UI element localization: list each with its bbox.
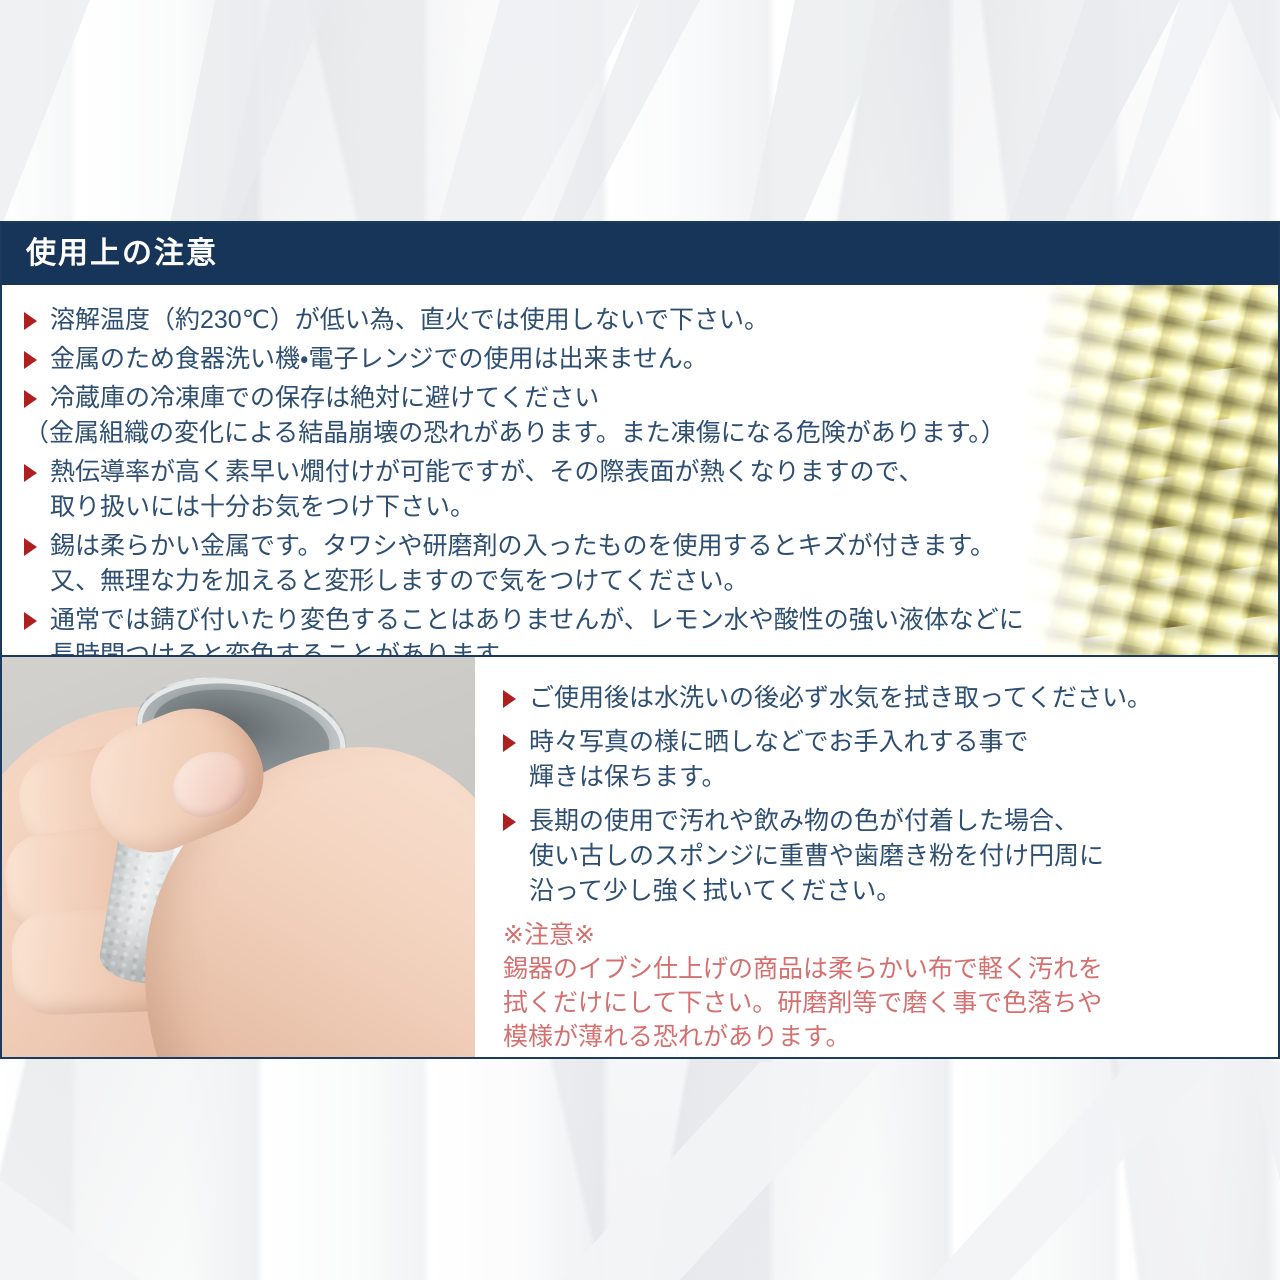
list-item: 錫は柔らかい金属です。タワシや研磨剤の入ったものを使用するとキズが付きます。 又… — [24, 529, 1278, 599]
warning-block: ※注意※ 錫器のイブシ仕上げの商品は柔らかい布で軽く汚れを 拭くだけにして下さい… — [503, 918, 1278, 1054]
list-item-text: 金属のため食器洗い機・電子レンジでの使用は出来ません。 — [50, 342, 1278, 377]
list-item: 溶解温度（約230℃）が低い為、直火では使用しないで下さい。 — [24, 303, 1278, 338]
red-triangle-bullet-icon — [503, 813, 529, 831]
care-line: 使い古しのスポンジに重曹や歯磨き粉を付け円周に — [529, 839, 1104, 874]
red-triangle-bullet-icon — [24, 390, 50, 408]
notice-line: 熱伝導率が高く素早い燗付けが可能ですが、その際表面が熱くなりますので、 — [50, 455, 1278, 490]
red-triangle-bullet-icon — [503, 734, 529, 752]
care-line: 長期の使用で汚れや飲み物の色が付着した場合、 — [529, 804, 1104, 839]
care-text-column: ご使用後は水洗いの後必ず水気を拭き取ってください。 時々写真の様に晒しなどでお手… — [475, 657, 1278, 1057]
hands-polishing-tin-cup-with-cloth-photo — [2, 657, 475, 1057]
care-line: 時々写真の様に晒しなどでお手入れする事で — [529, 725, 1029, 760]
red-triangle-bullet-icon — [503, 690, 529, 708]
notice-line: 通常では錆び付いたり変色することはありませんが、レモン水や酸性の強い液体などに — [50, 603, 1278, 638]
care-line: 沿って少し強く拭いてください。 — [529, 874, 1104, 909]
warning-line: 拭くだけにして下さい。研磨剤等で磨く事で色落ちや — [503, 986, 1278, 1020]
list-item-text: ご使用後は水洗いの後必ず水気を拭き取ってください。 — [529, 681, 1152, 716]
notice-line: 取り扱いには十分お気をつけ下さい。 — [50, 490, 1278, 525]
list-item: 通常では錆び付いたり変色することはありませんが、レモン水や酸性の強い液体などに … — [24, 603, 1278, 657]
notice-section: 溶解温度（約230℃）が低い為、直火では使用しないで下さい。 金属のため食器洗い… — [2, 285, 1278, 657]
red-triangle-bullet-icon — [24, 612, 50, 630]
red-triangle-bullet-icon — [24, 351, 50, 369]
list-item-text: 錫は柔らかい金属です。タワシや研磨剤の入ったものを使用するとキズが付きます。 又… — [50, 529, 1278, 599]
warning-line: 錫器のイブシ仕上げの商品は柔らかい布で軽く汚れを — [503, 952, 1278, 986]
care-line: 輝きは保ちます。 — [529, 760, 1029, 795]
usage-notice-card: 使用上の注意 溶解温度（約230℃）が低い為、直火では使用しないで下さい。 — [0, 221, 1280, 1059]
red-triangle-bullet-icon — [24, 538, 50, 556]
warning-heading: ※注意※ — [503, 918, 1278, 952]
notice-list: 溶解温度（約230℃）が低い為、直火では使用しないで下さい。 金属のため食器洗い… — [2, 285, 1278, 657]
notice-line: 金属のため食器洗い機・電子レンジでの使用は出来ません。 — [50, 342, 1278, 377]
list-item: ご使用後は水洗いの後必ず水気を拭き取ってください。 — [503, 681, 1278, 716]
list-item: 熱伝導率が高く素早い燗付けが可能ですが、その際表面が熱くなりますので、 取り扱い… — [24, 455, 1278, 525]
care-line: ご使用後は水洗いの後必ず水気を拭き取ってください。 — [529, 681, 1152, 716]
notice-line: 溶解温度（約230℃）が低い為、直火では使用しないで下さい。 — [50, 303, 1278, 338]
warning-line: 模様が薄れる恐れがあります。 — [503, 1020, 1278, 1054]
card-header: 使用上の注意 — [2, 223, 1278, 285]
notice-line: （金属組織の変化による結晶崩壊の恐れがあります。また凍傷になる危険があります。） — [24, 416, 1278, 451]
notice-line: 長時間つけると変色することがあります。 — [50, 638, 1278, 657]
notice-line: 又、無理な力を加えると変形しますので気をつけてください。 — [50, 564, 1278, 599]
list-item-text: 冷蔵庫の冷凍庫での保存は絶対に避けてください （金属組織の変化による結晶崩壊の恐… — [50, 381, 1278, 451]
list-item-text: 溶解温度（約230℃）が低い為、直火では使用しないで下さい。 — [50, 303, 1278, 338]
list-item: 金属のため食器洗い機・電子レンジでの使用は出来ません。 — [24, 342, 1278, 377]
red-triangle-bullet-icon — [24, 464, 50, 482]
notice-line: 錫は柔らかい金属です。タワシや研磨剤の入ったものを使用するとキズが付きます。 — [50, 529, 1278, 564]
page-root: 使用上の注意 溶解温度（約230℃）が低い為、直火では使用しないで下さい。 — [0, 0, 1280, 1280]
list-item: 長期の使用で汚れや飲み物の色が付着した場合、 使い古しのスポンジに重曹や歯磨き粉… — [503, 804, 1278, 909]
care-section: ご使用後は水洗いの後必ず水気を拭き取ってください。 時々写真の様に晒しなどでお手… — [2, 657, 1278, 1057]
list-item-text: 長期の使用で汚れや飲み物の色が付着した場合、 使い古しのスポンジに重曹や歯磨き粉… — [529, 804, 1104, 909]
list-item-text: 通常では錆び付いたり変色することはありませんが、レモン水や酸性の強い液体などに … — [50, 603, 1278, 657]
notice-line: 冷蔵庫の冷凍庫での保存は絶対に避けてください — [50, 381, 1278, 416]
list-item: 冷蔵庫の冷凍庫での保存は絶対に避けてください （金属組織の変化による結晶崩壊の恐… — [24, 381, 1278, 451]
list-item: 時々写真の様に晒しなどでお手入れする事で 輝きは保ちます。 — [503, 725, 1278, 795]
list-item-text: 熱伝導率が高く素早い燗付けが可能ですが、その際表面が熱くなりますので、 取り扱い… — [50, 455, 1278, 525]
red-triangle-bullet-icon — [24, 312, 50, 330]
page-title: 使用上の注意 — [26, 239, 218, 269]
list-item-text: 時々写真の様に晒しなどでお手入れする事で 輝きは保ちます。 — [529, 725, 1029, 795]
